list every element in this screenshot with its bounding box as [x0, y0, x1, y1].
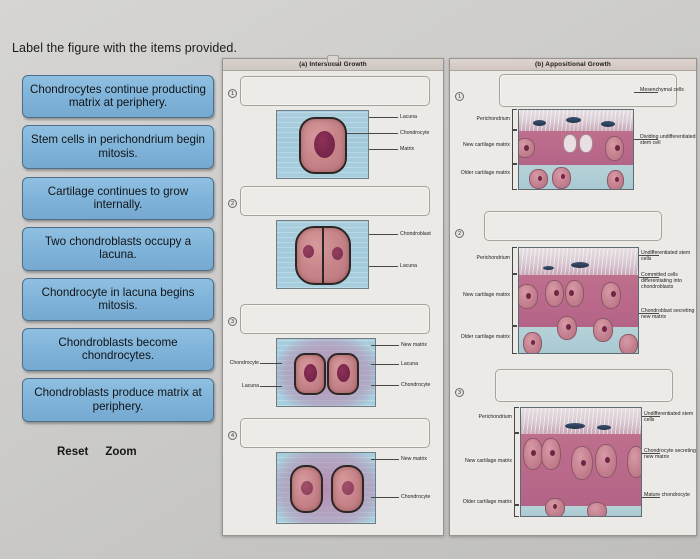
figure-label: Older cartilage matrix [456, 334, 510, 340]
leader-line [347, 133, 398, 134]
step-number-a4: 4 [228, 431, 237, 440]
figure-label: Perichondrium [456, 116, 510, 122]
figure-label: Dividing undifferentiated stem cell [640, 134, 696, 146]
figure-label: Lacuna [400, 263, 417, 269]
figure-panel-interstitial: (a) Interstitial Growth 1 Lacuna Chondro… [222, 58, 444, 536]
worksheet-page: Label the figure with the items provided… [0, 0, 700, 559]
leader-line [260, 386, 282, 387]
figure-controls: ResetZoom [57, 446, 137, 458]
figure-label: Older cartilage matrix [456, 170, 510, 176]
leader-line [369, 117, 398, 118]
figure-label: Mesenchymal cells [640, 87, 696, 93]
reset-button[interactable]: Reset [57, 446, 88, 458]
figure-label: Lacuna [205, 383, 259, 389]
figure-label: Mature chondrocyte [644, 492, 696, 498]
bracket [514, 407, 515, 433]
leader-line [369, 149, 398, 150]
figure-label: Perichondrium [456, 255, 510, 261]
figure-label: New cartilage matrix [456, 458, 512, 464]
figure-label: Chondrocyte [400, 130, 429, 136]
step-number-a1: 1 [228, 89, 237, 98]
micrograph-b2 [518, 247, 639, 354]
bracket [512, 326, 513, 354]
dropzone-b3[interactable] [495, 369, 673, 402]
dropzone-a2[interactable] [240, 186, 430, 216]
figure-label: Chondrocyte secreting new matrix [644, 448, 696, 460]
figure-label: New cartilage matrix [456, 142, 510, 148]
figure-label: New matrix [401, 456, 427, 462]
leader-line [371, 345, 399, 346]
answer-tile-stack: Chondrocytes continue producting matrix … [22, 75, 214, 429]
leader-line [260, 363, 282, 364]
bracket [514, 433, 515, 505]
leader-line [371, 497, 399, 498]
leader-line [369, 266, 398, 267]
figure-label: Committed cells differentiating into cho… [641, 272, 697, 290]
micrograph-a2 [276, 220, 369, 289]
leader-line [371, 459, 399, 460]
figure-label: Perichondrium [456, 414, 512, 420]
bracket [512, 164, 513, 190]
bracket [512, 247, 513, 274]
micrograph-b3 [520, 407, 642, 517]
dropzone-a4[interactable] [240, 418, 430, 448]
figure-label: Undifferentiated stem cells [644, 411, 696, 423]
answer-tile[interactable]: Chondrocyte in lacuna begins mitosis. [22, 278, 214, 321]
page-title: Label the figure with the items provided… [12, 41, 237, 55]
panel-b-title: (b) Appositional Growth [450, 59, 696, 71]
answer-tile[interactable]: Cartilage continues to grow internally. [22, 177, 214, 220]
leader-line [371, 364, 399, 365]
answer-tile[interactable]: Chondrocytes continue producting matrix … [22, 75, 214, 118]
step-number-a2: 2 [228, 199, 237, 208]
micrograph-b1 [518, 109, 634, 190]
answer-tile[interactable]: Stem cells in perichondrium begin mitosi… [22, 125, 214, 168]
dropzone-a1[interactable] [240, 76, 430, 106]
bracket [512, 274, 513, 326]
figure-panel-appositional: (b) Appositional Growth 1 Peri [449, 58, 697, 536]
scroll-handle[interactable] [327, 55, 339, 63]
dropzone-a3[interactable] [240, 304, 430, 334]
micrograph-a1 [276, 110, 369, 179]
step-number-b1: 1 [455, 92, 464, 101]
bracket [512, 109, 513, 130]
dropzone-b2[interactable] [484, 211, 662, 241]
micrograph-a4 [276, 452, 376, 524]
leader-line [369, 234, 398, 235]
step-number-b2: 2 [455, 229, 464, 238]
figure-label: Chondrocyte [401, 382, 430, 388]
figure-label: Matrix [400, 146, 414, 152]
figure-label: Chondroblast [400, 231, 431, 237]
figure-label: Chondrocyte [401, 494, 430, 500]
step-number-b3: 3 [455, 388, 464, 397]
figure-label: New matrix [401, 342, 427, 348]
answer-tile[interactable]: Chondroblasts become chondrocytes. [22, 328, 214, 371]
answer-tile[interactable]: Two chondroblasts occupy a lacuna. [22, 227, 214, 270]
zoom-button[interactable]: Zoom [105, 446, 136, 458]
micrograph-a3 [276, 338, 376, 407]
figure-label: Older cartilage matrix [456, 499, 512, 505]
figure-label: Chondroblast secreting new matrix [641, 308, 697, 320]
bracket [512, 130, 513, 164]
figure-label: New cartilage matrix [456, 292, 510, 298]
figure-label: Lacuna [401, 361, 418, 367]
bracket [514, 505, 515, 517]
step-number-a3: 3 [228, 317, 237, 326]
leader-line [371, 385, 399, 386]
figure-label: Lacuna [400, 114, 417, 120]
figure-label: Chondrocyte [205, 360, 259, 366]
answer-tile[interactable]: Chondroblasts produce matrix at peripher… [22, 378, 214, 421]
figure-label: Undifferentiated stem cells [641, 250, 697, 262]
